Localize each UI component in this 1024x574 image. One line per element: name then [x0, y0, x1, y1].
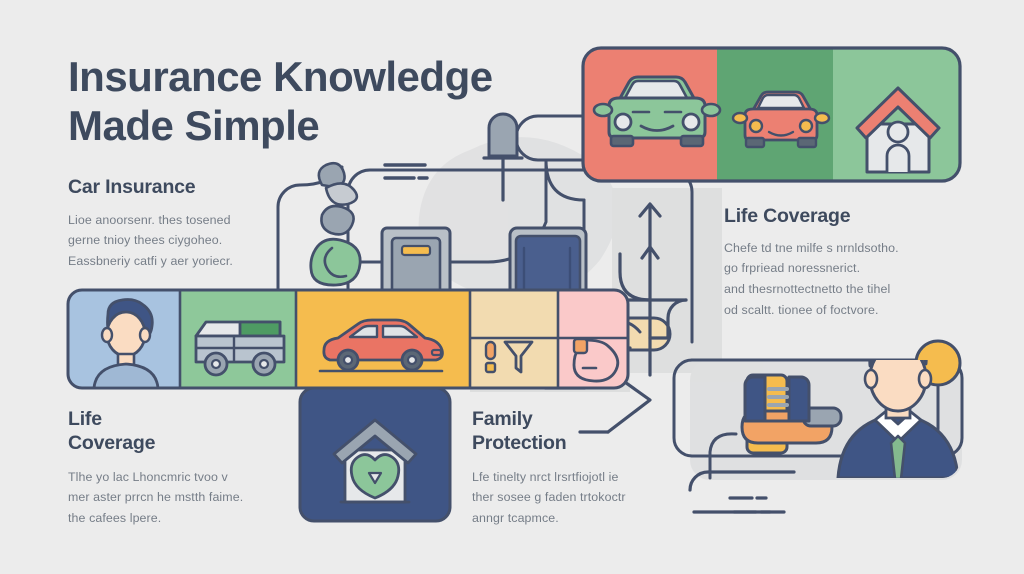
- title-line-2: Made Simple: [68, 101, 608, 150]
- body-line: Lioe anoorsenr. thes tosened: [68, 210, 318, 231]
- family-protection-heading: Family Protection: [472, 408, 687, 456]
- car-insurance-body: Lioe anoorsenr. thes tosened gerne tnioy…: [68, 210, 318, 272]
- heading-line: Life: [68, 408, 283, 432]
- section-life-coverage-right: Life Coverage Chefe td tne milfe s nrnld…: [724, 205, 956, 320]
- life-coverage-right-body: Chefe td tne milfe s nrnldsotho. go frpr…: [724, 238, 956, 320]
- life-coverage-right-heading: Life Coverage: [724, 205, 956, 229]
- heading-line: Family: [472, 408, 687, 432]
- life-coverage-left-heading: Life Coverage: [68, 408, 283, 456]
- body-line: and thesrnottectnetto the tihel: [724, 279, 956, 300]
- body-line: go frpriead noressnerict.: [724, 258, 956, 279]
- clamp-shape: [710, 375, 841, 478]
- body-line: Eassbneriy catfi y aer yoriecr.: [68, 251, 318, 272]
- body-line: od scaltt. tionee of foctvore.: [724, 300, 956, 321]
- body-line: Tlhe yo lac Lhoncmric tvoo v: [68, 467, 283, 488]
- infographic-canvas: Insurance Knowledge Made Simple Car Insu…: [0, 0, 1024, 574]
- family-protection-body: Lfe tinelty nrct lrsrtfiojotl ie ther so…: [472, 467, 687, 529]
- body-line: Chefe td tne milfe s nrnldsotho.: [724, 238, 956, 259]
- car-insurance-heading: Car Insurance: [68, 176, 318, 200]
- section-family-protection: Family Protection Lfe tinelty nrct lrsrt…: [472, 408, 687, 528]
- body-line: the cafees lpere.: [68, 508, 283, 529]
- section-car-insurance: Car Insurance Lioe anoorsenr. thes tosen…: [68, 176, 318, 272]
- title-line-1: Insurance Knowledge: [68, 52, 608, 101]
- section-life-coverage-left: Life Coverage Tlhe yo lac Lhoncmric tvoo…: [68, 408, 283, 528]
- body-line: gerne tnioy thees ciygoheo.: [68, 230, 318, 251]
- body-line: Lfe tinelty nrct lrsrtfiojotl ie: [472, 467, 687, 488]
- body-line: ther sosee g faden trtokoctr: [472, 487, 687, 508]
- life-coverage-left-body: Tlhe yo lac Lhoncmric tvoo v mer aster p…: [68, 467, 283, 529]
- body-line: mer aster prrcn he mstth faime.: [68, 487, 283, 508]
- body-line: anngr tcapmce.: [472, 508, 687, 529]
- page-title: Insurance Knowledge Made Simple: [68, 52, 608, 150]
- heading-line: Protection: [472, 432, 687, 456]
- heading-line: Coverage: [68, 432, 283, 456]
